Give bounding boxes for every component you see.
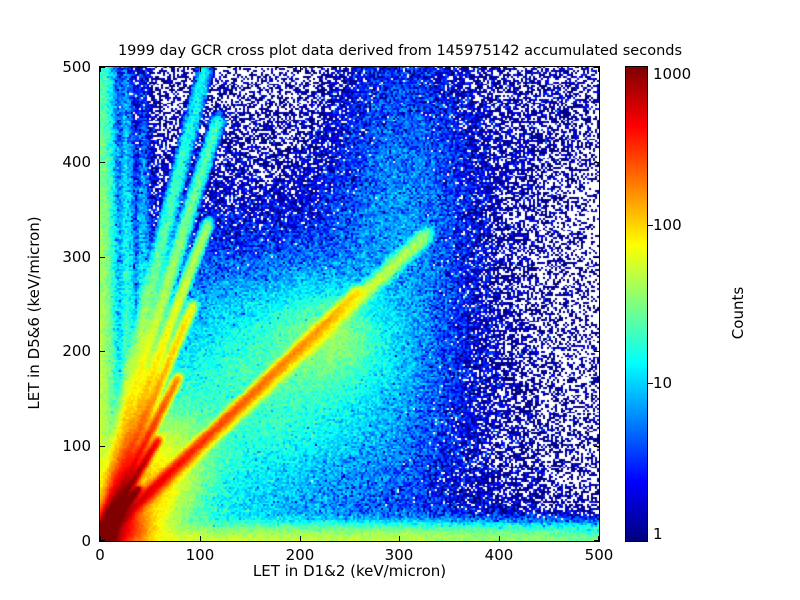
colorbar-gradient <box>626 67 647 541</box>
y-tick-mark-right <box>594 351 599 352</box>
y-tick-label: 200 <box>39 342 91 360</box>
colorbar-tick-label: 10 <box>653 374 672 392</box>
y-tick-label: 300 <box>39 248 91 266</box>
y-tick-mark-right <box>594 67 599 68</box>
y-tick-mark <box>100 257 105 258</box>
x-tick-mark-top <box>300 67 301 72</box>
scatter-plot-axes[interactable] <box>99 66 600 542</box>
colorbar-tick-label: 1000 <box>653 65 691 83</box>
y-tick-mark <box>100 67 105 68</box>
y-tick-mark-right <box>594 446 599 447</box>
y-tick-label: 500 <box>39 58 91 76</box>
y-tick-mark-right <box>594 257 599 258</box>
gcr-density-heatmap <box>100 67 599 541</box>
x-tick-mark-top <box>200 67 201 72</box>
x-axis-label: LET in D1&2 (keV/micron) <box>99 562 600 580</box>
colorbar-tick-label: 100 <box>653 216 682 234</box>
y-tick-label: 100 <box>39 437 91 455</box>
figure-canvas: 1999 day GCR cross plot data derived fro… <box>0 0 800 600</box>
colorbar[interactable] <box>625 66 648 542</box>
x-tick-mark <box>399 536 400 541</box>
y-tick-label: 400 <box>39 153 91 171</box>
x-tick-mark <box>499 536 500 541</box>
y-tick-mark <box>100 540 105 541</box>
y-tick-mark <box>100 446 105 447</box>
y-tick-mark <box>100 162 105 163</box>
y-tick-label: 0 <box>39 532 91 550</box>
y-tick-mark <box>100 351 105 352</box>
colorbar-tick-label: 1 <box>653 525 663 543</box>
y-tick-mark-right <box>594 162 599 163</box>
y-tick-mark-right <box>594 540 599 541</box>
colorbar-label: Counts <box>729 203 747 423</box>
x-tick-mark-top <box>499 67 500 72</box>
x-tick-mark-top <box>399 67 400 72</box>
x-tick-mark <box>300 536 301 541</box>
x-tick-mark <box>200 536 201 541</box>
y-axis-label: LET in D5&6 (keV/micron) <box>25 173 43 453</box>
title-line-1: 1999 day GCR cross plot data derived fro… <box>0 42 800 60</box>
